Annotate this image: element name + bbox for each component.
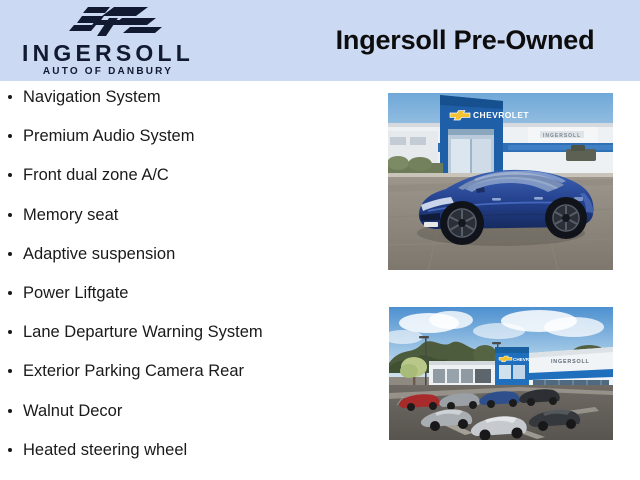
feature-label: Adaptive suspension [23,245,175,263]
bullet-icon [8,291,12,295]
list-item: Front dual zone A/C [0,164,380,203]
bullet-icon [8,134,12,138]
brand-name: INGERSOLL [8,41,208,65]
ingersoll-wing-emblem-icon [52,6,172,40]
list-item: Memory seat [0,204,380,243]
bullet-icon [8,95,12,99]
svg-text:CHEVROLET: CHEVROLET [473,110,529,120]
features-list: Navigation System Premium Audio System F… [0,86,380,478]
page-title: Ingersoll Pre-Owned [300,25,630,56]
dealership-photo: CHEVROLET INGERSOLL [389,307,613,440]
feature-label: Power Liftgate [23,284,128,302]
bullet-icon [8,369,12,373]
bullet-icon [8,330,12,334]
bullet-icon [8,409,12,413]
list-item: Lane Departure Warning System [0,321,380,360]
bullet-icon [8,173,12,177]
feature-label: Exterior Parking Camera Rear [23,362,244,380]
bullet-icon [8,213,12,217]
bullet-icon [8,448,12,452]
list-item: Power Liftgate [0,282,380,321]
list-item: Exterior Parking Camera Rear [0,360,380,399]
vehicle-photo: CHEVROLET INGERSOLL [388,93,613,270]
svg-text:INGERSOLL: INGERSOLL [543,133,581,139]
list-item: Walnut Decor [0,400,380,439]
list-item: Adaptive suspension [0,243,380,282]
svg-text:INGERSOLL: INGERSOLL [551,359,590,365]
feature-label: Navigation System [23,88,161,106]
list-item: Navigation System [0,86,380,125]
feature-label: Heated steering wheel [23,441,187,459]
page-header: INGERSOLL AUTO OF DANBURY Ingersoll Pre-… [0,0,640,81]
list-item: Premium Audio System [0,125,380,164]
feature-label: Front dual zone A/C [23,166,169,184]
feature-label: Lane Departure Warning System [23,323,263,341]
feature-label: Walnut Decor [23,402,122,420]
list-item: Heated steering wheel [0,439,380,478]
brand-tagline: AUTO OF DANBURY [8,66,208,77]
bullet-icon [8,252,12,256]
dealer-logo: INGERSOLL AUTO OF DANBURY [0,4,215,78]
feature-label: Memory seat [23,206,118,224]
feature-label: Premium Audio System [23,127,194,145]
